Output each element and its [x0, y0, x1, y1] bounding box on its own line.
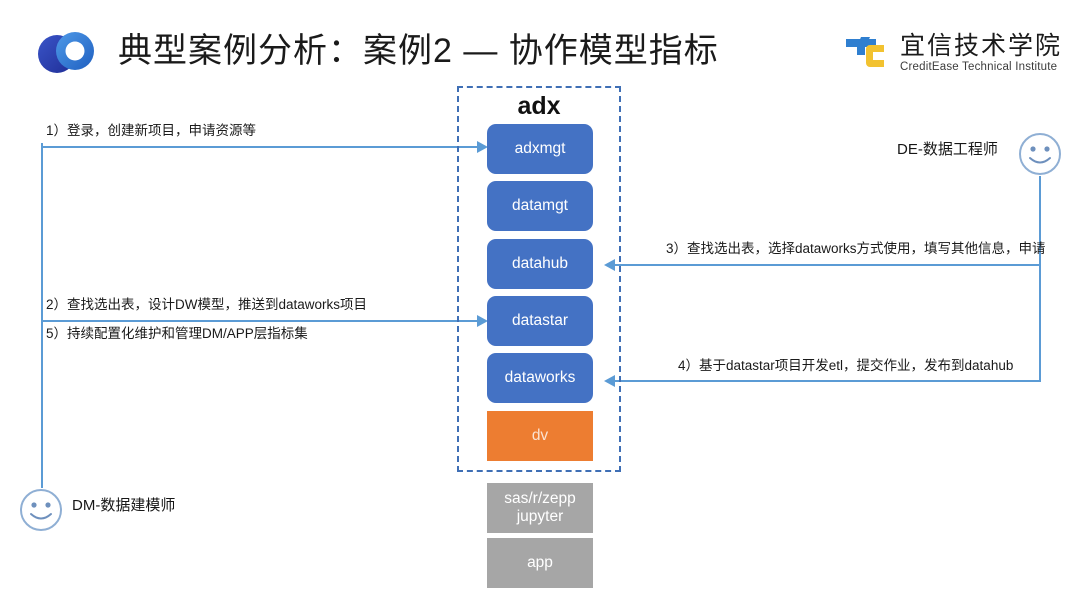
node-adxmgt-label: adxmgt	[515, 140, 566, 158]
node-dataworks-label: dataworks	[505, 369, 576, 387]
node-datahub-label: datahub	[512, 255, 568, 273]
overlapping-circles-logo-icon	[30, 24, 110, 80]
node-datamgt-label: datamgt	[512, 197, 568, 215]
node-datastar-label: datastar	[512, 312, 568, 330]
node-datamgt[interactable]: datamgt	[487, 181, 593, 231]
page-title: 典型案例分析：案例2 — 协作模型指标	[118, 22, 719, 80]
de-actor-label: DE-数据工程师	[897, 140, 998, 160]
node-app[interactable]: app	[487, 538, 593, 588]
node-adxmgt[interactable]: adxmgt	[487, 124, 593, 174]
brand-name-cn: 宜信技术学院	[900, 32, 1062, 60]
flow-step2-label: 2）查找选出表，设计DW模型，推送到dataworks项目	[46, 296, 367, 314]
node-sas-r-zepp-label: sas/r/zepp	[504, 490, 576, 508]
flow-step1-label: 1）登录，创建新项目，申请资源等	[46, 122, 256, 140]
step4-arrow-line	[615, 380, 1041, 382]
step2-arrow-line	[41, 320, 481, 322]
dm-trunk-line	[41, 143, 43, 488]
dm-actor-smiley-face-icon	[19, 488, 63, 532]
de-trunk-line	[1039, 176, 1041, 382]
brand-name-en: CreditEase Technical Institute	[900, 60, 1062, 74]
node-datastar[interactable]: datastar	[487, 296, 593, 346]
flow-step4-label: 4）基于datastar项目开发etl，提交作业，发布到datahub	[678, 357, 1013, 375]
node-dv-label: dv	[532, 427, 548, 445]
node-app-label: app	[527, 554, 553, 572]
node-dv[interactable]: dv	[487, 411, 593, 461]
flow-step3-label: 3）查找选出表，选择dataworks方式使用，填写其他信息，申请	[666, 240, 1046, 258]
node-sas-r-zepp-jupyter[interactable]: sas/r/zepp jupyter	[487, 483, 593, 533]
de-actor-smiley-face-icon	[1018, 132, 1062, 176]
step3-arrow-line	[615, 264, 1041, 266]
node-jupyter-label: jupyter	[517, 508, 564, 526]
slide-canvas: 典型案例分析：案例2 — 协作模型指标 宜信技术学院 CreditEase Te…	[0, 0, 1080, 608]
brand-logo: 宜信技术学院 CreditEase Technical Institute	[844, 26, 1062, 80]
node-dataworks[interactable]: dataworks	[487, 353, 593, 403]
dm-actor-label: DM-数据建模师	[72, 496, 175, 516]
node-datahub[interactable]: datahub	[487, 239, 593, 289]
adx-group-title: adx	[457, 92, 621, 121]
creditease-tc-monogram-icon	[844, 34, 890, 72]
flow-step5-label: 5）持续配置化维护和管理DM/APP层指标集	[46, 325, 308, 343]
step1-arrow-line	[41, 146, 481, 148]
